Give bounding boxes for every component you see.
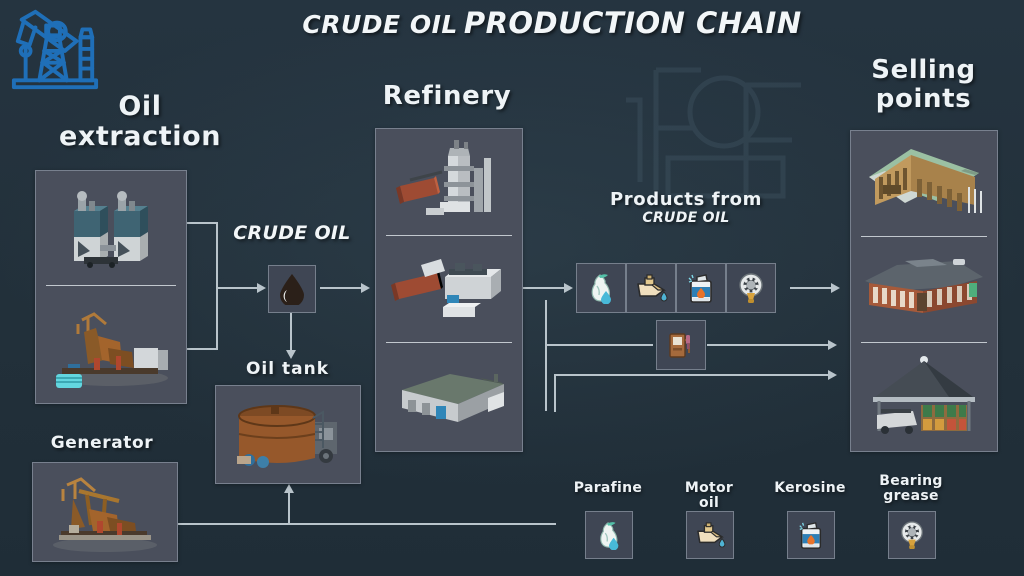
panel-oil-tank[interactable] (215, 385, 361, 484)
arrow-products-to-selling (831, 283, 840, 293)
heading-oil-extraction-line2: extraction (59, 121, 221, 152)
production-chain-diagram: CRUDE OILPRODUCTION CHAIN Oil extraction… (0, 0, 1024, 576)
legend-kerosine-icon[interactable] (787, 511, 835, 559)
legend-parafine-icon[interactable] (585, 511, 633, 559)
wire-products-to-selling (790, 287, 832, 289)
farmhouse-building-model (851, 131, 997, 236)
panel-generator[interactable] (32, 462, 178, 562)
legend-label-kerosine: Kerosine (755, 481, 865, 496)
refinery-warehouse-model (376, 343, 522, 449)
arrow-refinery-to-products (564, 283, 573, 293)
parafine-icon[interactable] (576, 263, 626, 313)
wire-products-down (545, 300, 547, 411)
heading-products-from-sub: CRUDE OIL (576, 211, 796, 227)
page-title: CRUDE OILPRODUCTION CHAIN (292, 6, 812, 40)
heading-refinery: Refinery (352, 82, 542, 111)
wire-crude-to-refinery (320, 287, 362, 289)
oil-rig-twin-towers-model (36, 171, 186, 285)
wire-to-fuel-slot (545, 344, 653, 346)
legend-bearing-grease-icon[interactable] (888, 511, 936, 559)
legend-label-motor-oil-line1: Motor (685, 480, 733, 496)
wire-extraction-top (186, 222, 218, 224)
legend-label-bearing-grease: Bearing grease (856, 474, 966, 505)
heading-selling-points-line1: Selling (871, 55, 975, 85)
arrow-return-to-tank (284, 484, 294, 493)
page-title-part2: PRODUCTION CHAIN (464, 6, 802, 40)
arrow-to-crude-oil (257, 283, 266, 293)
panel-selling-points[interactable] (850, 130, 998, 452)
arrow-crude-to-tank (286, 350, 296, 359)
bearing-grease-icon[interactable] (726, 263, 776, 313)
generator-pumpjack-model (33, 463, 177, 560)
motor-oil-icon[interactable] (626, 263, 676, 313)
legend-label-motor-oil-line2: oil (699, 495, 719, 511)
oil-pumpjack-icon (6, 2, 104, 94)
wire-extraction-bottom-up (216, 294, 218, 350)
wire-to-crude-oil (216, 287, 258, 289)
heading-products-from: Products from CRUDE OIL (576, 190, 796, 227)
wire-direct-to-selling (554, 374, 829, 376)
heading-oil-extraction-line1: Oil (118, 91, 161, 122)
market-tent-model (851, 343, 997, 448)
fuel-pump-icon[interactable] (656, 320, 706, 370)
shop-building-model (851, 237, 997, 342)
legend-label-parafine: Parafine (553, 481, 663, 496)
wire-direct-branch-down (554, 374, 556, 412)
heading-oil-extraction: Oil extraction (0, 92, 280, 152)
legend-label-kerosine-line1: Kerosine (774, 480, 846, 496)
panel-refinery[interactable] (375, 128, 523, 452)
heading-products-from-main: Products from (610, 189, 762, 210)
oil-pump-site-model (36, 286, 186, 402)
arrow-direct-to-selling (828, 370, 837, 380)
wire-return-up-to-tank (288, 492, 290, 524)
wire-crude-to-tank (290, 313, 292, 351)
legend-label-bearing-grease-line2: grease (883, 488, 939, 504)
wire-extraction-top-down (216, 222, 218, 294)
legend-label-bearing-grease-line1: Bearing (879, 473, 942, 489)
wire-refinery-to-products (523, 287, 565, 289)
label-crude-oil: CRUDE OIL (222, 222, 362, 244)
heading-selling-points: Selling points (846, 56, 1001, 114)
arrow-fuel-to-selling (828, 340, 837, 350)
legend-motor-oil-icon[interactable] (686, 511, 734, 559)
page-title-part1: CRUDE OIL (302, 10, 457, 39)
crude-oil-droplet-icon[interactable] (268, 265, 316, 313)
refinery-processing-model (376, 236, 522, 342)
panel-oil-extraction[interactable] (35, 170, 187, 404)
arrow-crude-to-refinery (361, 283, 370, 293)
oil-storage-tank-model (216, 386, 360, 482)
wire-bottom-return (176, 523, 556, 525)
heading-generator: Generator (22, 434, 182, 453)
legend-label-parafine-line1: Parafine (574, 480, 642, 496)
wire-fuel-to-selling (707, 344, 829, 346)
wire-extraction-bottom (186, 348, 218, 350)
legend-label-motor-oil: Motor oil (654, 481, 764, 512)
kerosine-icon[interactable] (676, 263, 726, 313)
heading-selling-points-line2: points (876, 84, 971, 114)
heading-oil-tank: Oil tank (215, 360, 360, 379)
refinery-tower-model (376, 129, 522, 235)
